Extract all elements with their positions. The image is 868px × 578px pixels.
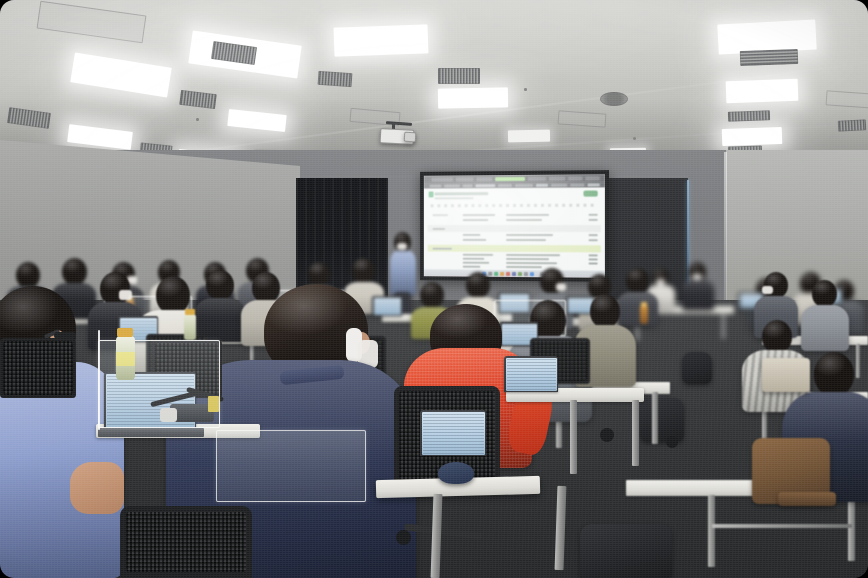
- browser-tab: [476, 177, 492, 181]
- head: [206, 270, 234, 300]
- laptop-front: [504, 356, 558, 392]
- bottle-cap: [185, 309, 195, 315]
- taskbar-icon: [512, 271, 515, 275]
- sheet-row: [506, 254, 561, 256]
- mesh-task-chair-front: [0, 338, 76, 398]
- presenter-face-mask: [397, 243, 407, 250]
- bag-on-floor: [580, 524, 672, 578]
- head: [590, 294, 620, 328]
- sheet-row: [463, 266, 481, 268]
- seminar-room-photo: Rows of masked attendees at white desks …: [0, 0, 868, 578]
- bookmark-chip: [551, 183, 567, 186]
- laptop-screen: [506, 358, 557, 391]
- drink-bottle: [184, 314, 196, 340]
- bookmark-chip: [570, 183, 584, 186]
- head: [252, 272, 280, 303]
- sheet-row: [506, 214, 550, 216]
- bookmark-chip: [430, 184, 442, 187]
- desk-leg: [722, 313, 725, 339]
- sheet-row: [463, 262, 490, 264]
- acrylic-post: [98, 330, 100, 430]
- sprinkler-head: [196, 118, 199, 121]
- bookmark-chip: [515, 183, 533, 186]
- head: [812, 280, 837, 307]
- sheet-value: [588, 258, 597, 260]
- taskbar-icon: [500, 271, 503, 275]
- ceiling-air-vent: [740, 49, 798, 66]
- acrylic-divider-front: [216, 430, 366, 502]
- chair-caster: [666, 436, 678, 448]
- forearm: [70, 462, 124, 514]
- ceiling-light-panel: [438, 87, 508, 108]
- browser-tab: [528, 176, 546, 180]
- sprinkler-head: [524, 88, 527, 91]
- desk-crossbar: [712, 524, 852, 528]
- sheet-row: [506, 262, 557, 264]
- taskbar-icon: [518, 272, 521, 276]
- chair-mesh: [3, 341, 73, 395]
- right-wall-corner-edge: [724, 152, 727, 324]
- document-menu-row: [434, 197, 473, 199]
- taskbar-icon: [494, 271, 497, 275]
- sheet-highlight-green: [427, 245, 601, 253]
- share-button: [583, 190, 597, 196]
- taskbar-icon: [506, 271, 509, 275]
- torso: [801, 305, 849, 351]
- bottle-cap: [117, 328, 133, 337]
- head: [814, 352, 854, 396]
- head: [62, 258, 87, 285]
- desk-leg: [856, 344, 860, 378]
- browser-tab: [585, 176, 599, 180]
- head: [762, 320, 792, 353]
- chair-caster: [600, 428, 614, 442]
- presenter-torso: [390, 251, 416, 295]
- app-logo-icon: [429, 191, 434, 197]
- bookmark-chip: [588, 183, 600, 186]
- head: [420, 282, 444, 308]
- document-toolbar: [431, 204, 598, 208]
- head: [764, 272, 788, 298]
- sheet-row: [506, 239, 546, 241]
- projection-surface: [424, 174, 605, 278]
- spreadsheet-document: [424, 187, 605, 270]
- face-mask: [556, 283, 566, 291]
- projection-screen: [420, 170, 609, 282]
- browser-tab: [549, 176, 565, 180]
- head: [100, 272, 130, 305]
- bookmark-chip: [475, 184, 495, 187]
- ceiling-air-vent: [438, 68, 480, 84]
- sheet-value: [588, 219, 597, 221]
- taskbar-icon: [524, 272, 527, 276]
- laptop-front: [420, 410, 486, 456]
- tote-bag-cream: [762, 358, 810, 392]
- laptop-screen: [422, 412, 485, 455]
- sheet-row: [463, 239, 486, 241]
- laptop-screen: [568, 298, 593, 313]
- browser-tab: [568, 176, 582, 180]
- ceiling-light-panel: [508, 130, 550, 143]
- chair-caster: [396, 530, 411, 545]
- head: [466, 272, 490, 298]
- laptop-keyboard: [98, 428, 204, 437]
- projector-lens-housing: [404, 132, 417, 143]
- chair-mesh: [126, 512, 246, 572]
- sheet-value: [588, 262, 597, 264]
- sheet-row: [463, 234, 481, 236]
- torso: [682, 280, 714, 310]
- computer-mouse: [438, 462, 474, 484]
- browser-tab: [456, 177, 474, 181]
- sheet-value: [588, 254, 597, 256]
- ceiling-light-panel: [334, 24, 429, 56]
- sheet-row: [433, 248, 452, 250]
- drink-bottle: [640, 306, 648, 324]
- browser-tab-active: [495, 176, 525, 180]
- document-title: [434, 192, 487, 195]
- projected-image: [424, 174, 605, 278]
- torso: [617, 292, 658, 326]
- bag-strap: [778, 492, 836, 506]
- sheet-row: [506, 258, 550, 260]
- bottle-label: [116, 352, 135, 366]
- desk-leg: [570, 400, 577, 474]
- ceiling-air-vent: [318, 71, 353, 87]
- ceiling-air-vent: [728, 110, 770, 121]
- head: [626, 268, 649, 293]
- bookmark-chip: [444, 184, 460, 187]
- sheet-row: [463, 214, 495, 216]
- browser-tab: [432, 177, 453, 181]
- sheet-row: [506, 219, 542, 221]
- ceiling-air-vent: [838, 119, 867, 131]
- windows-taskbar: [424, 269, 605, 277]
- backpack-black: [682, 352, 712, 384]
- head: [16, 262, 40, 288]
- bookmark-chip: [498, 184, 512, 187]
- taskbar-icon: [530, 272, 534, 276]
- sheet-row: [506, 266, 542, 268]
- bottle-cap: [641, 302, 647, 307]
- taskbar-icon: [488, 271, 491, 275]
- mesh-task-chair-front: [120, 506, 252, 578]
- sheet-value: [588, 234, 597, 236]
- backpack-black: [640, 398, 684, 442]
- ceiling-light-panel: [722, 127, 783, 146]
- sheet-value: [588, 214, 597, 216]
- head: [308, 262, 330, 286]
- sheet-row: [463, 258, 484, 260]
- laptop: [372, 296, 402, 316]
- sprinkler-head: [633, 137, 636, 140]
- desk-leg: [632, 400, 639, 466]
- desk-leg: [652, 392, 658, 444]
- sheet-row: [506, 234, 553, 236]
- desk-leg: [848, 495, 855, 561]
- bookmark-chip: [536, 183, 548, 186]
- ceiling-speaker: [600, 92, 628, 106]
- face-mask: [119, 290, 132, 300]
- sheet-row: [463, 254, 493, 256]
- sheet-section-header: [427, 225, 601, 232]
- sheet-row: [433, 214, 449, 216]
- sheet-row: [433, 228, 445, 230]
- sheet-row: [463, 219, 488, 221]
- desk-leg: [708, 495, 715, 567]
- laptop-screen: [374, 298, 401, 315]
- face-mask: [762, 286, 773, 294]
- ceiling-light-panel: [726, 79, 799, 103]
- head: [352, 258, 375, 283]
- sheet-value: [588, 239, 597, 241]
- bookmark-chip: [463, 184, 473, 187]
